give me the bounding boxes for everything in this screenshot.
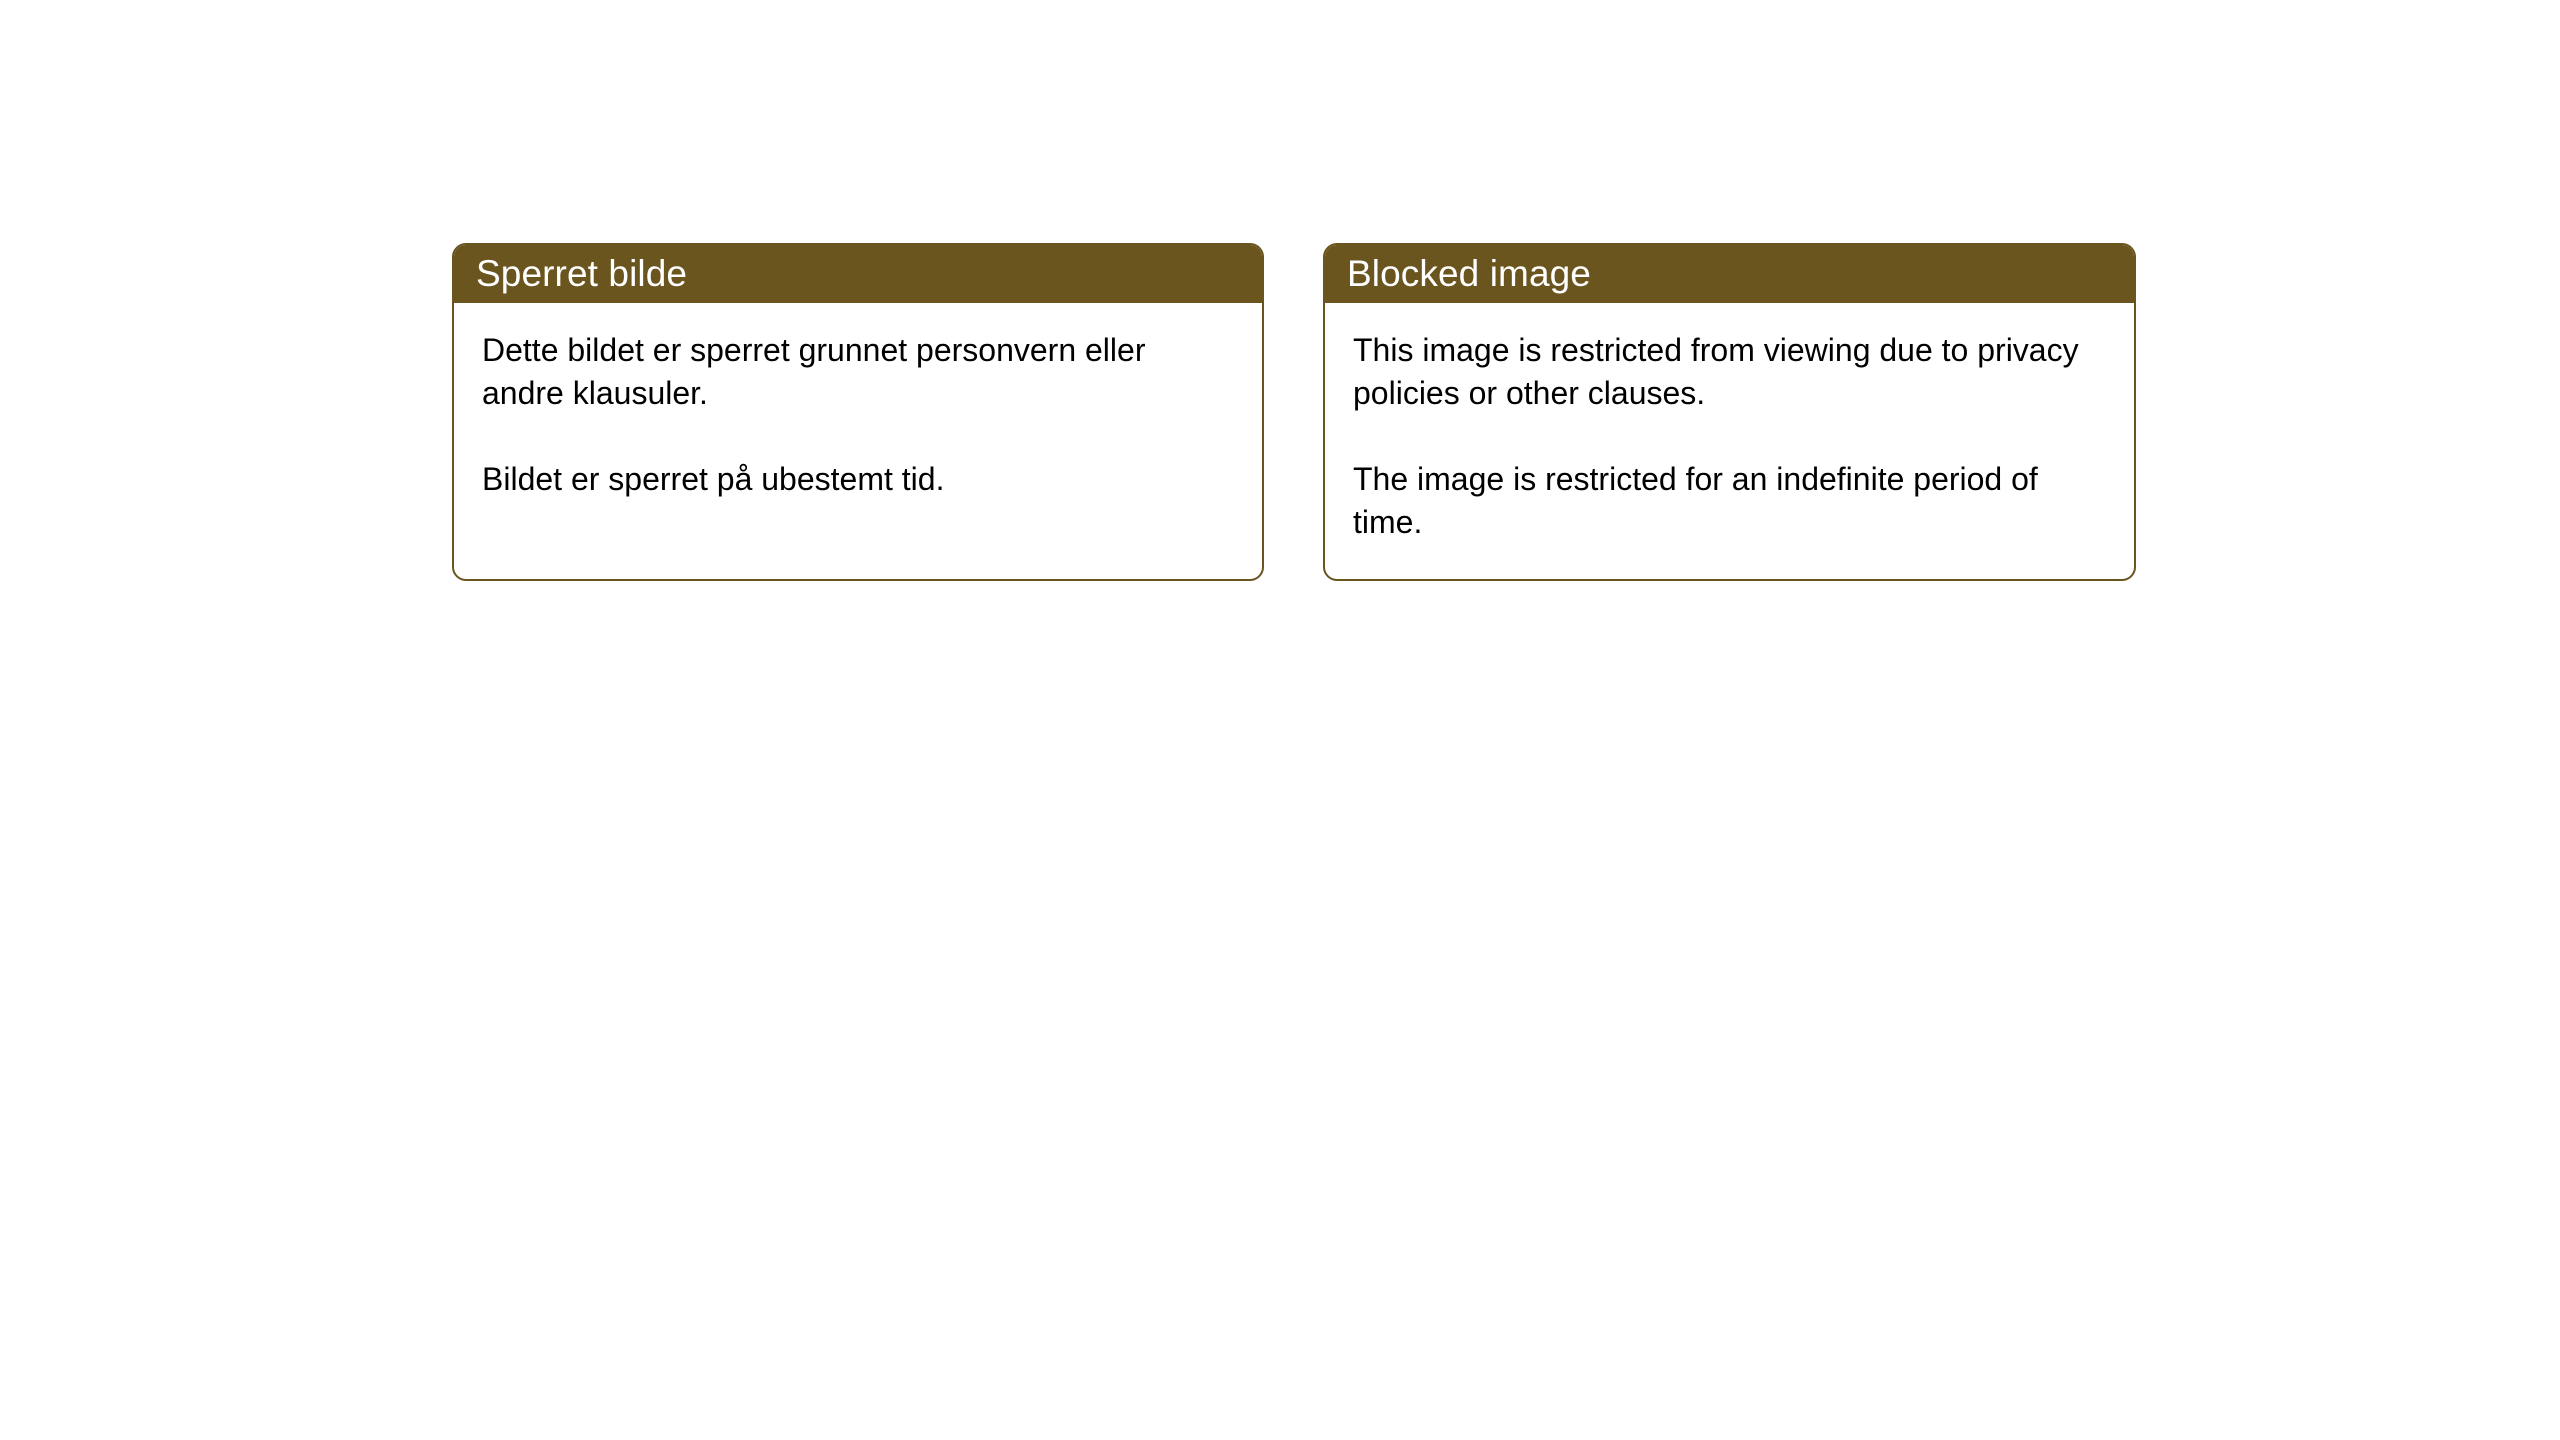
card-header-en: Blocked image	[1323, 243, 2136, 303]
card-title-en: Blocked image	[1347, 255, 1591, 292]
blocked-image-notice-card-no: Sperret bilde Dette bildet er sperret gr…	[452, 243, 1264, 581]
blocked-image-notice-card-en: Blocked image This image is restricted f…	[1323, 243, 2136, 581]
card-body-no: Dette bildet er sperret grunnet personve…	[454, 303, 1262, 501]
card-title-no: Sperret bilde	[476, 255, 687, 292]
card-paragraph-en-2: The image is restricted for an indefinit…	[1353, 458, 2106, 544]
card-body-en: This image is restricted from viewing du…	[1325, 303, 2134, 544]
card-paragraph-no-2: Bildet er sperret på ubestemt tid.	[482, 458, 1234, 501]
card-header-no: Sperret bilde	[452, 243, 1264, 303]
card-paragraph-no-1: Dette bildet er sperret grunnet personve…	[482, 329, 1234, 415]
card-paragraph-en-1: This image is restricted from viewing du…	[1353, 329, 2106, 415]
page-canvas: Sperret bilde Dette bildet er sperret gr…	[0, 0, 2560, 1440]
